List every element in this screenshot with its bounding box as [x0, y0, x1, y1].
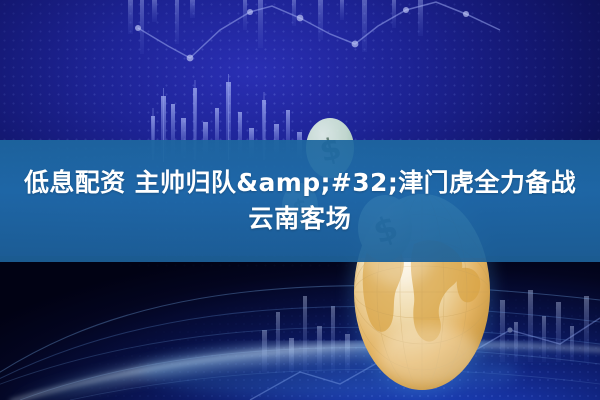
- thumbnail-canvas: $ $ $ 低息配资 主帅归队&amp;#32;津门虎全力备战 云南客场: [0, 0, 600, 400]
- headline-line-2: 云南客场: [248, 201, 351, 237]
- cyan-light-sweep: [10, 344, 600, 400]
- zigzag-line-chart: [135, 2, 500, 61]
- headline-text-block: 低息配资 主帅归队&amp;#32;津门虎全力备战 云南客场: [0, 140, 600, 262]
- headline-line-1: 低息配资 主帅归队&amp;#32;津门虎全力备战: [24, 165, 576, 201]
